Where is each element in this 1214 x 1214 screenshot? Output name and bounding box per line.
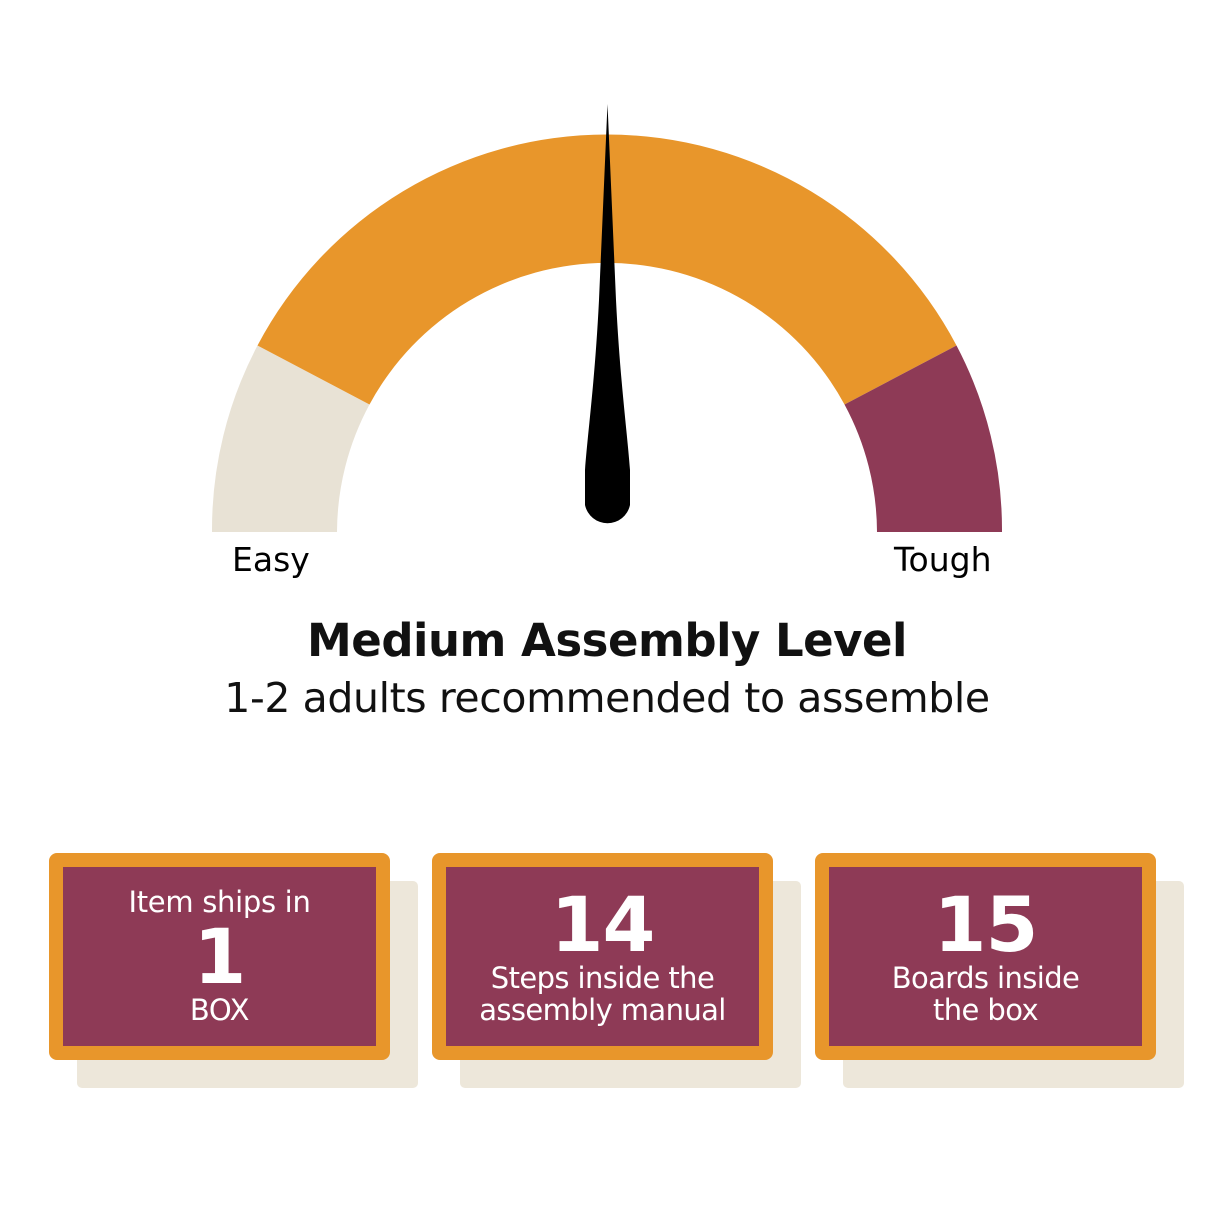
card-face: Item ships in 1 BOX xyxy=(49,853,390,1060)
card-value: 1 xyxy=(63,919,376,995)
page-title: Medium Assembly Level xyxy=(0,617,1214,664)
headline-block: Medium Assembly Level 1-2 adults recomme… xyxy=(0,617,1214,722)
gauge-svg xyxy=(0,0,1214,600)
card-bottom-label: Steps inside the assembly manual xyxy=(446,963,759,1026)
gauge-label-tough: Tough xyxy=(894,543,992,576)
card-face: 14 Steps inside the assembly manual xyxy=(432,853,773,1060)
card-bottom-label: Boards inside the box xyxy=(829,963,1142,1026)
assembly-level-infographic: Easy Tough Medium Assembly Level 1-2 adu… xyxy=(0,0,1214,1214)
info-card-boards-in-box: 15 Boards inside the box xyxy=(815,853,1156,1060)
assembly-difficulty-gauge: Easy Tough xyxy=(0,0,1214,600)
page-subtitle: 1-2 adults recommended to assemble xyxy=(0,676,1214,722)
info-card-ships-in-boxes: Item ships in 1 BOX xyxy=(49,853,390,1060)
card-value: 14 xyxy=(446,887,759,963)
card-bottom-label: BOX xyxy=(63,995,376,1026)
info-cards-row: Item ships in 1 BOX 14 Steps inside the … xyxy=(49,853,1169,1083)
card-face: 15 Boards inside the box xyxy=(815,853,1156,1060)
info-card-manual-steps: 14 Steps inside the assembly manual xyxy=(432,853,773,1060)
card-value: 15 xyxy=(829,887,1142,963)
gauge-label-easy: Easy xyxy=(232,543,310,576)
